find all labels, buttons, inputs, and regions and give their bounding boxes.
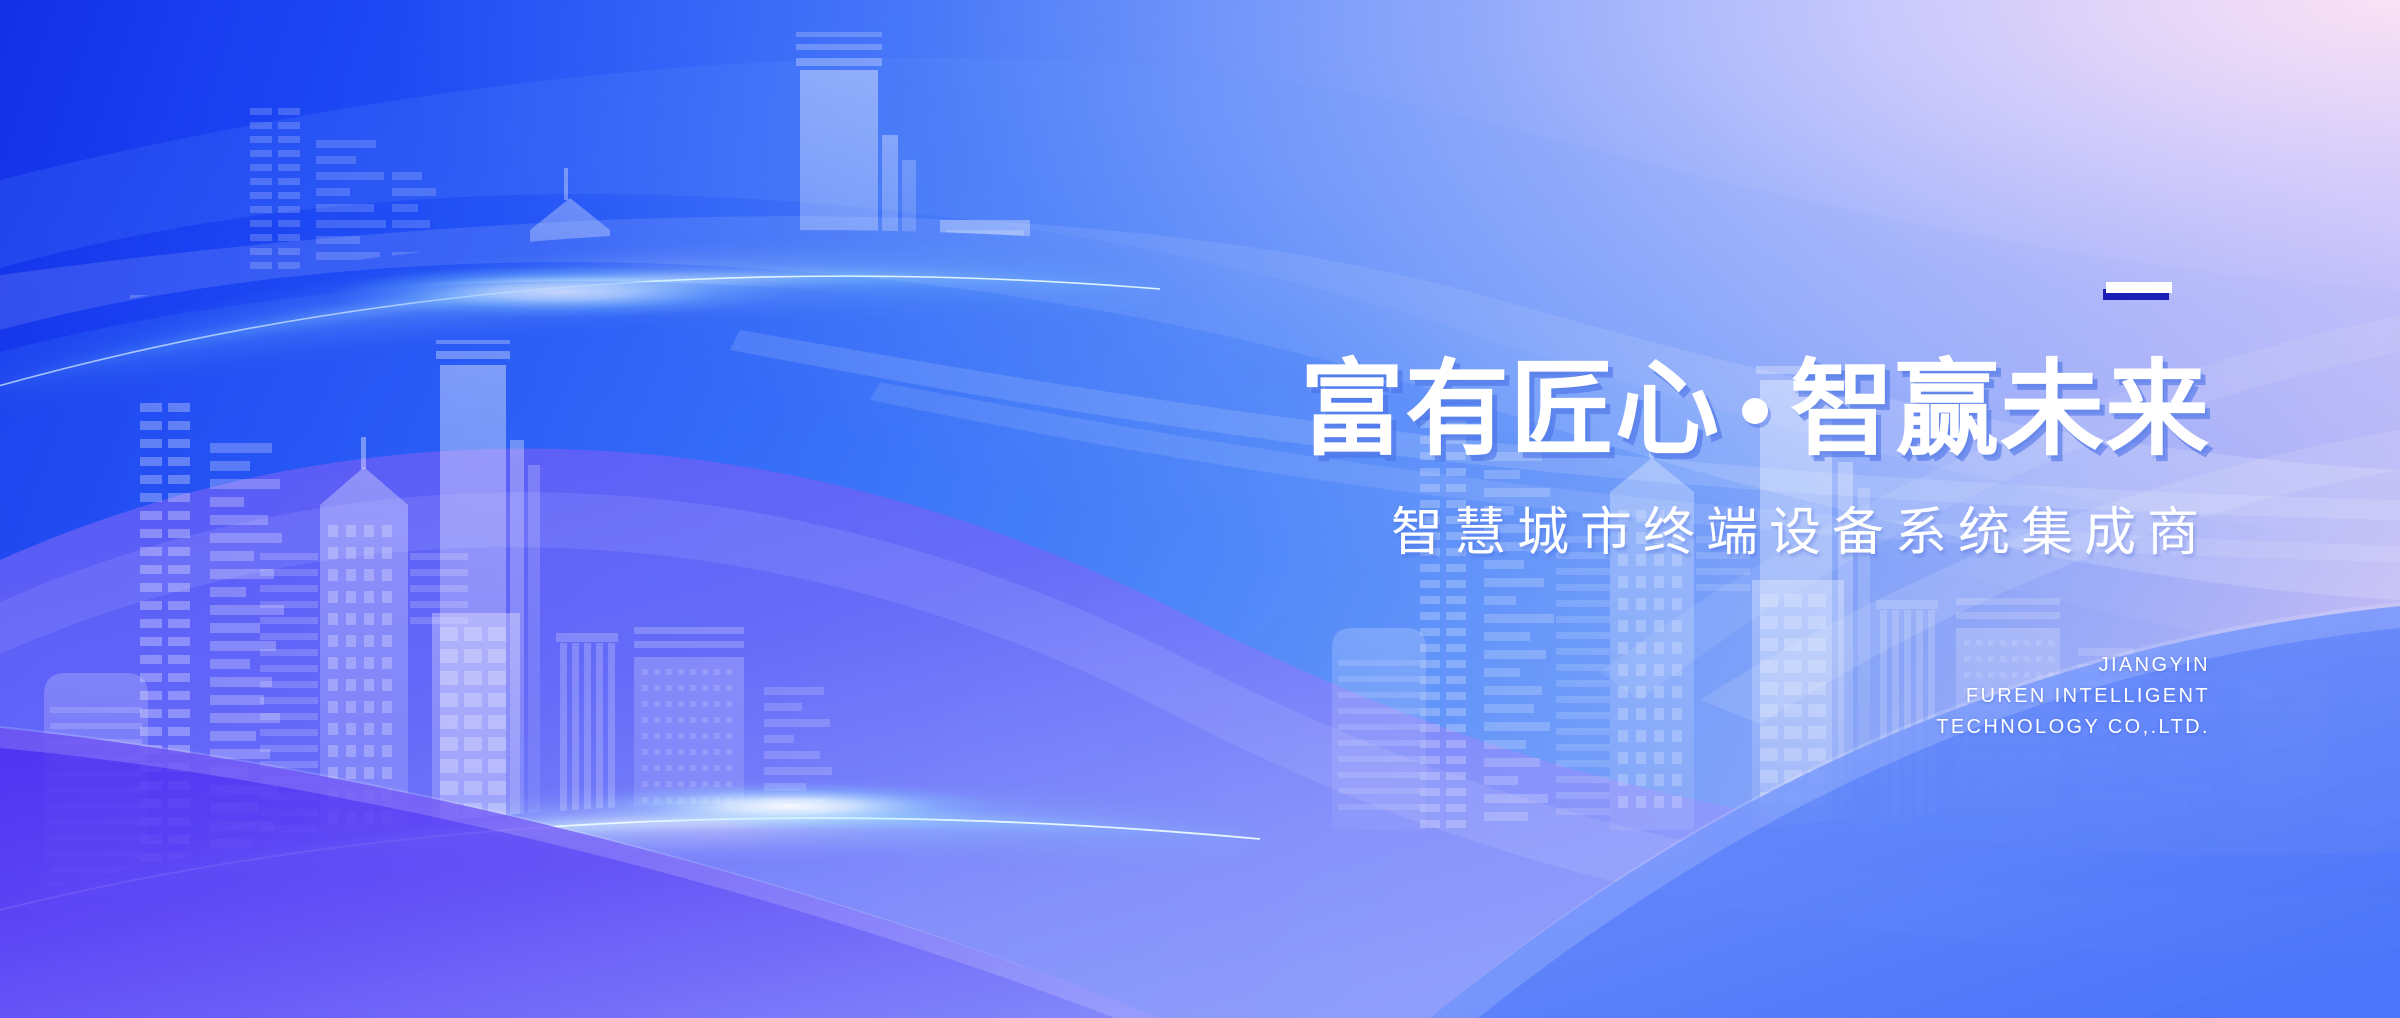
headline-separator-dot [1742, 398, 1768, 424]
headline-part-one: 富有匠心 [1300, 348, 1720, 470]
company-name-line-3: TECHNOLOGY CO,.LTD. [1700, 712, 2210, 743]
decorative-dash-mark [2106, 282, 2172, 293]
company-name-block: JIANGYIN FUREN INTELLIGENT TECHNOLOGY CO… [1700, 650, 2210, 743]
promotional-banner: 富有匠心智赢未来 智慧城市终端设备系统集成商 JIANGYIN FUREN IN… [0, 0, 2400, 1018]
subheadline: 智慧城市终端设备系统集成商 [1190, 505, 2210, 562]
company-name-line-1: JIANGYIN [1700, 650, 2210, 681]
headline: 富有匠心智赢未来 [1060, 356, 2210, 462]
headline-part-two: 智赢未来 [1790, 348, 2210, 470]
company-name-line-2: FUREN INTELLIGENT [1700, 681, 2210, 712]
